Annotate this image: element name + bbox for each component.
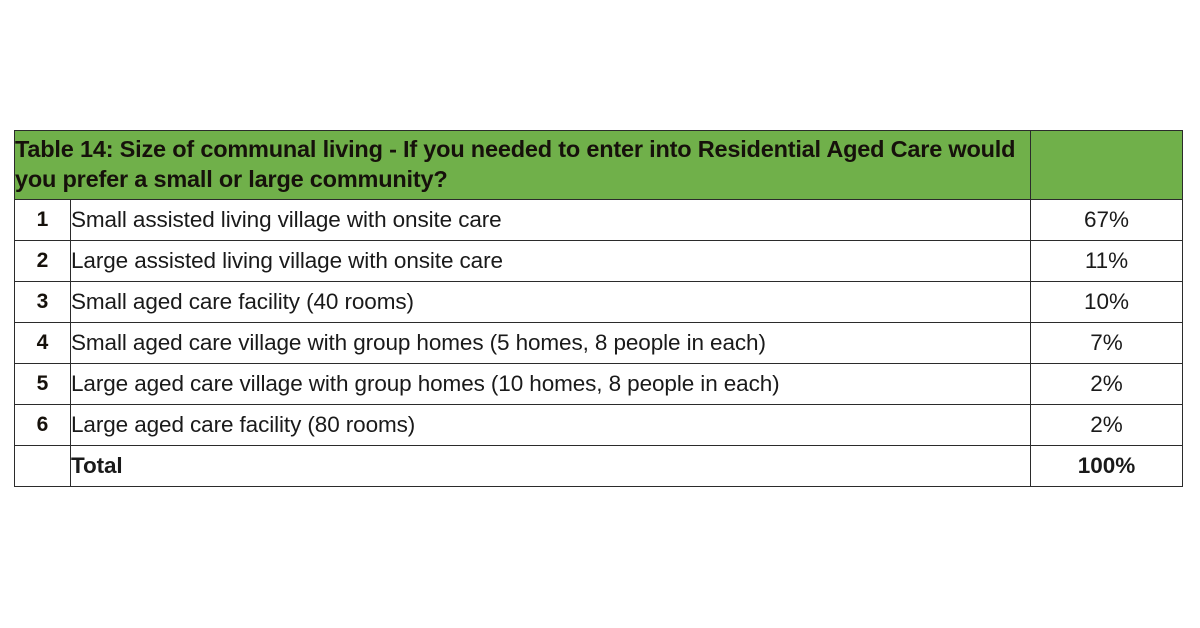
row-number: 1 bbox=[15, 200, 71, 241]
table-row: 5 Large aged care village with group hom… bbox=[15, 364, 1183, 405]
row-number: 6 bbox=[15, 405, 71, 446]
row-percentage: 10% bbox=[1031, 282, 1183, 323]
table-header-blank-cell bbox=[1031, 131, 1183, 200]
row-label: Small aged care facility (40 rooms) bbox=[71, 282, 1031, 323]
row-percentage: 7% bbox=[1031, 323, 1183, 364]
row-number: 2 bbox=[15, 241, 71, 282]
table-row: 2 Large assisted living village with ons… bbox=[15, 241, 1183, 282]
row-number: 4 bbox=[15, 323, 71, 364]
row-percentage: 11% bbox=[1031, 241, 1183, 282]
table-title: Table 14: Size of communal living - If y… bbox=[15, 131, 1031, 200]
row-percentage: 2% bbox=[1031, 405, 1183, 446]
row-number: 3 bbox=[15, 282, 71, 323]
table-total-row: Total 100% bbox=[15, 446, 1183, 487]
row-number: 5 bbox=[15, 364, 71, 405]
total-row-number bbox=[15, 446, 71, 487]
row-label: Large aged care village with group homes… bbox=[71, 364, 1031, 405]
total-percentage: 100% bbox=[1031, 446, 1183, 487]
total-label: Total bbox=[71, 446, 1031, 487]
document-page: Table 14: Size of communal living - If y… bbox=[0, 0, 1200, 628]
row-label: Large assisted living village with onsit… bbox=[71, 241, 1031, 282]
row-percentage: 2% bbox=[1031, 364, 1183, 405]
row-percentage: 67% bbox=[1031, 200, 1183, 241]
row-label: Small aged care village with group homes… bbox=[71, 323, 1031, 364]
survey-table-container: Table 14: Size of communal living - If y… bbox=[14, 130, 1182, 487]
table-row: 1 Small assisted living village with ons… bbox=[15, 200, 1183, 241]
row-label: Small assisted living village with onsit… bbox=[71, 200, 1031, 241]
table-row: 3 Small aged care facility (40 rooms) 10… bbox=[15, 282, 1183, 323]
row-label: Large aged care facility (80 rooms) bbox=[71, 405, 1031, 446]
survey-results-table: Table 14: Size of communal living - If y… bbox=[14, 130, 1183, 487]
table-header-row: Table 14: Size of communal living - If y… bbox=[15, 131, 1183, 200]
table-row: 4 Small aged care village with group hom… bbox=[15, 323, 1183, 364]
table-row: 6 Large aged care facility (80 rooms) 2% bbox=[15, 405, 1183, 446]
